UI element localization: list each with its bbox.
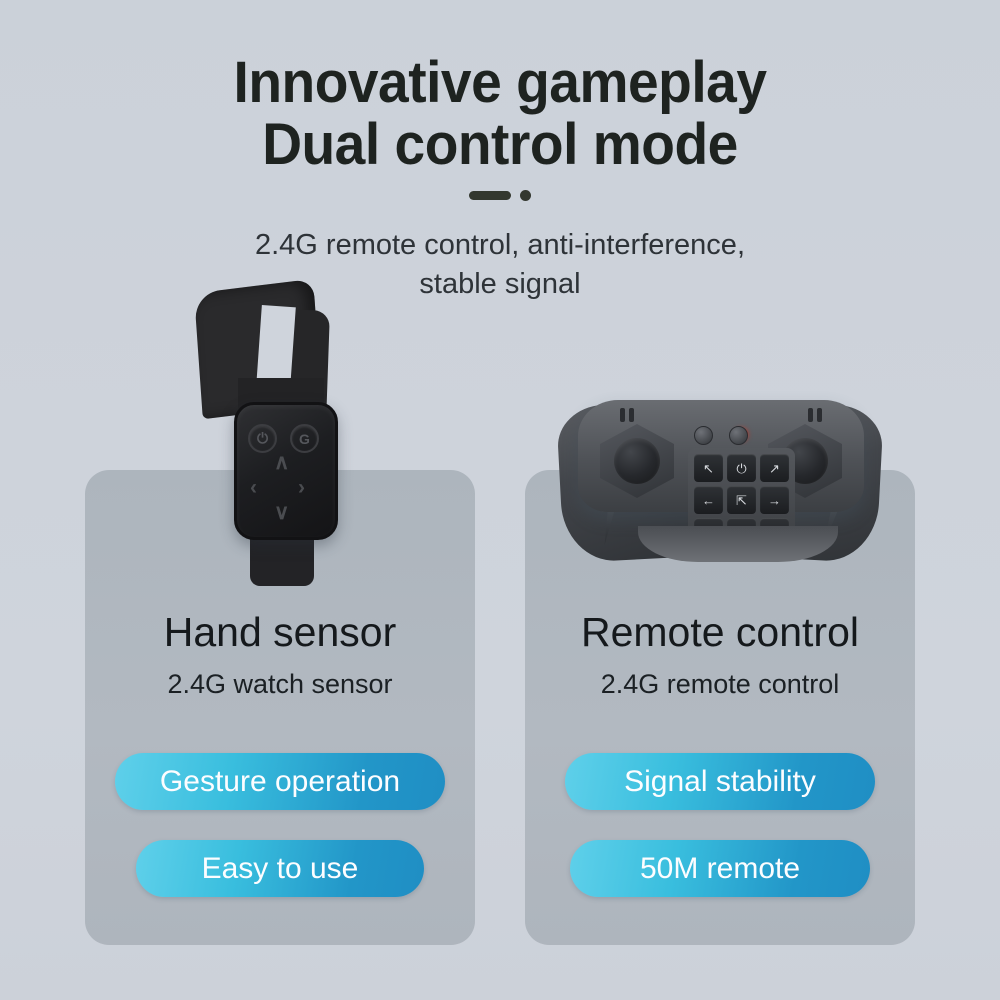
subtitle-line-2: stable signal: [0, 265, 1000, 304]
g-button[interactable]: G: [290, 424, 319, 453]
g-icon: G: [292, 426, 317, 451]
left-joystick[interactable]: [614, 438, 660, 484]
feature-pill-gesture-operation[interactable]: Gesture operation: [115, 753, 445, 810]
card-subtitle: 2.4G watch sensor: [85, 669, 475, 700]
right-arrow-icon[interactable]: ›: [298, 477, 305, 498]
page-title: Innovative gameplay Dual control mode: [25, 52, 975, 176]
left-arrow-icon[interactable]: ‹: [250, 477, 257, 498]
dash-icon: [469, 191, 511, 200]
card-title: Hand sensor: [85, 610, 475, 654]
dot-icon: [520, 190, 531, 201]
feature-pill-easy-to-use[interactable]: Easy to use: [136, 840, 424, 897]
key-left[interactable]: ←: [694, 486, 723, 514]
power-icon: ⏻: [250, 426, 275, 451]
remote-base: [638, 526, 838, 562]
remote-control-device: ↖ ⏻ ↗ ← ⇱ → ◎ ⤵ ↻: [560, 378, 880, 566]
down-arrow-icon[interactable]: ∨: [274, 502, 289, 523]
key-right[interactable]: →: [760, 486, 789, 514]
key-up-left[interactable]: ↖: [694, 454, 723, 482]
up-arrow-icon[interactable]: ∧: [274, 452, 289, 473]
feature-pill-signal-stability[interactable]: Signal stability: [565, 753, 875, 810]
subtitle-line-1: 2.4G remote control, anti-interference,: [255, 229, 745, 261]
key-up-right[interactable]: ↗: [760, 454, 789, 482]
right-vent-slots: [808, 408, 822, 422]
subtitle: 2.4G remote control, anti-interference, …: [0, 226, 1000, 304]
product-feature-banner: Innovative gameplay Dual control mode 2.…: [0, 0, 1000, 1000]
card-subtitle: 2.4G remote control: [525, 669, 915, 700]
right-trim-button[interactable]: [729, 426, 748, 445]
headline-line-2: Dual control mode: [25, 114, 975, 176]
left-vent-slots: [620, 408, 634, 422]
headline-line-1: Innovative gameplay: [233, 50, 766, 115]
hand-sensor-device: ⏻ G ∧ ∨ ‹ ›: [186, 286, 366, 586]
power-button[interactable]: ⏻: [248, 424, 277, 453]
feature-pill-50m-remote[interactable]: 50M remote: [570, 840, 870, 897]
key-power[interactable]: ⏻: [727, 454, 756, 482]
left-trim-button[interactable]: [694, 426, 713, 445]
divider: [0, 190, 1000, 201]
card-title: Remote control: [525, 610, 915, 654]
key-takeoff[interactable]: ⇱: [727, 486, 756, 514]
left-joystick-well: [600, 424, 674, 498]
remote-shell: ↖ ⏻ ↗ ← ⇱ → ◎ ⤵ ↻: [578, 400, 864, 512]
